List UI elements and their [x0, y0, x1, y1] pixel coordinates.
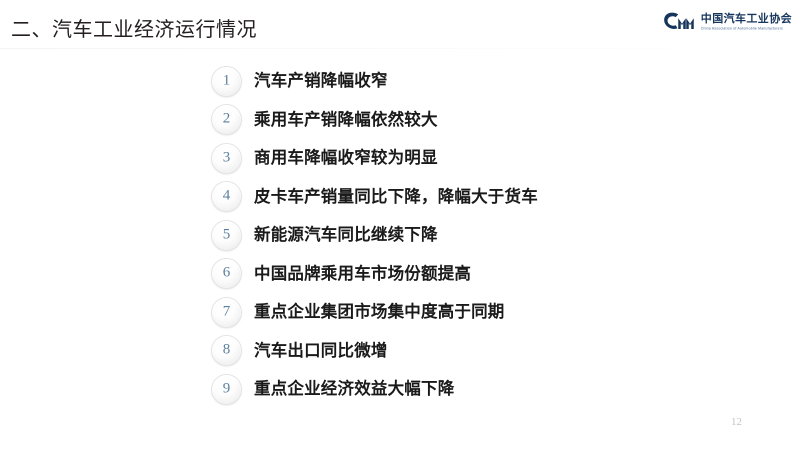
bullet-number-badge: 5 — [212, 221, 241, 250]
bullet-number-badge: 1 — [212, 67, 241, 96]
slide-header: 二、汽车工业经济运行情况 中国汽车工业协会 China Association … — [0, 0, 800, 52]
page-number: 12 — [731, 416, 742, 428]
bullet-number: 6 — [223, 266, 231, 281]
bullet-number-badge: 9 — [212, 375, 241, 404]
bullet-number: 1 — [223, 73, 231, 88]
list-item: 3 商用车降幅收窄较为明显 — [212, 139, 732, 178]
bullet-label: 汽车出口同比微增 — [254, 343, 388, 360]
bullet-number-badge: 7 — [212, 298, 241, 327]
bullet-number: 8 — [223, 343, 231, 358]
bullet-number: 2 — [223, 112, 231, 127]
bullet-number-badge: 3 — [212, 144, 241, 173]
bullet-label: 重点企业集团市场集中度高于同期 — [254, 304, 505, 321]
bullet-number-badge: 4 — [212, 182, 241, 211]
list-item: 1 汽车产销降幅收窄 — [212, 62, 732, 101]
list-item: 4 皮卡车产销量同比下降，降幅大于货车 — [212, 178, 732, 217]
brand-name-cn: 中国汽车工业协会 — [701, 14, 792, 25]
bullet-number: 3 — [223, 150, 231, 165]
list-item: 7 重点企业集团市场集中度高于同期 — [212, 293, 732, 332]
bullet-label: 新能源汽车同比继续下降 — [254, 227, 438, 244]
brand-name-en: China Association of Automobile Manufact… — [701, 27, 792, 31]
list-item: 5 新能源汽车同比继续下降 — [212, 216, 732, 255]
bullet-label: 商用车降幅收窄较为明显 — [254, 150, 438, 167]
list-item: 2 乘用车产销降幅依然较大 — [212, 101, 732, 140]
bullet-number-badge: 6 — [212, 259, 241, 288]
bullet-number-badge: 8 — [212, 336, 241, 365]
list-item: 9 重点企业经济效益大幅下降 — [212, 370, 732, 409]
bullet-list: 1 汽车产销降幅收窄 2 乘用车产销降幅依然较大 3 商用车降幅收窄较为明显 4… — [212, 62, 732, 409]
header-divider — [0, 48, 800, 49]
bullet-number: 5 — [223, 227, 231, 242]
bullet-label: 中国品牌乘用车市场份额提高 — [254, 266, 471, 283]
list-item: 8 汽车出口同比微增 — [212, 332, 732, 371]
bullet-label: 汽车产销降幅收窄 — [254, 73, 388, 90]
caam-logo-mark-icon — [663, 11, 697, 33]
brand-logo-text: 中国汽车工业协会 China Association of Automobile… — [701, 14, 792, 31]
presentation-slide: 二、汽车工业经济运行情况 中国汽车工业协会 China Association … — [0, 0, 800, 450]
bullet-number: 7 — [223, 304, 231, 319]
list-item: 6 中国品牌乘用车市场份额提高 — [212, 255, 732, 294]
bullet-label: 重点企业经济效益大幅下降 — [254, 381, 454, 398]
page-title: 二、汽车工业经济运行情况 — [11, 17, 257, 43]
brand-logo: 中国汽车工业协会 China Association of Automobile… — [663, 11, 792, 33]
bullet-number: 9 — [223, 381, 231, 396]
bullet-number: 4 — [223, 189, 231, 204]
bullet-label: 乘用车产销降幅依然较大 — [254, 112, 438, 129]
bullet-label: 皮卡车产销量同比下降，降幅大于货车 — [254, 189, 538, 206]
bullet-number-badge: 2 — [212, 105, 241, 134]
